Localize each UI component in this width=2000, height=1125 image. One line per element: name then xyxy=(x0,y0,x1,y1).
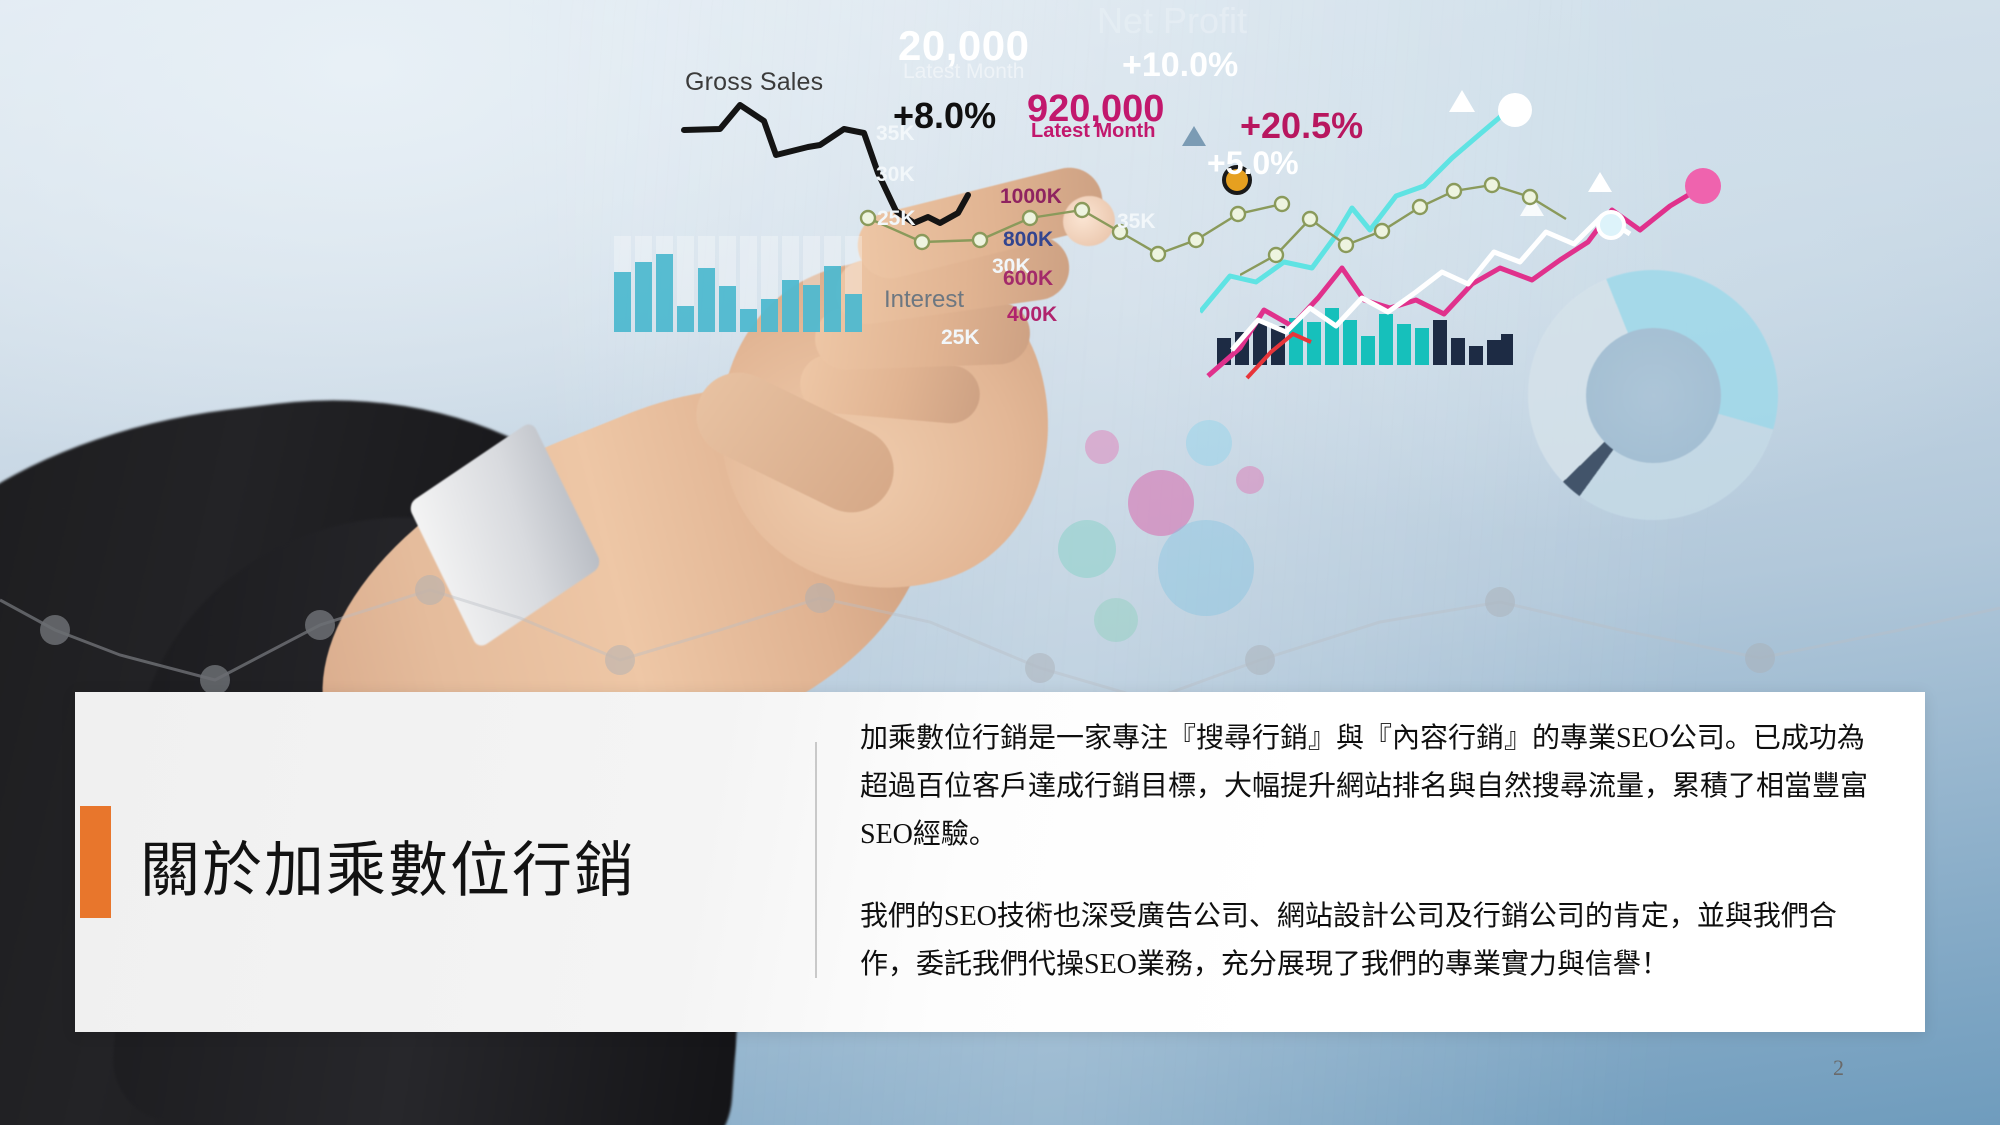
body-paragraph-2: 我們的SEO技術也深受廣告公司、網站設計公司及行銷公司的肯定，並與我們合作，委託… xyxy=(860,893,1880,989)
up-triangle-blue xyxy=(1182,126,1206,146)
label-pct-205: +20.5% xyxy=(1240,105,1363,147)
axis-label-25k-a: 25K xyxy=(877,207,916,231)
cyan-endpoint xyxy=(1498,93,1532,127)
axis-label-400k: 400K xyxy=(1007,303,1057,327)
magenta-endpoint xyxy=(1685,168,1721,204)
red-trend-segment xyxy=(1245,330,1315,380)
label-gross-sales: Gross Sales xyxy=(685,68,823,97)
label-interest: Interest xyxy=(884,286,964,314)
vertical-divider xyxy=(815,742,817,978)
page-title: 關於加乘數位行銷 xyxy=(140,790,760,940)
axis-label-35k-c: 35K xyxy=(1117,210,1156,234)
up-triangle-white-1 xyxy=(1449,90,1475,112)
axis-label-30k-a: 30K xyxy=(876,163,915,187)
label-net-profit: Net Profit xyxy=(1097,0,1247,42)
label-latest-month-caption: Latest Month xyxy=(903,60,1024,84)
accent-bar xyxy=(80,806,111,918)
axis-label-600k: 600K xyxy=(1003,267,1053,291)
white-line-endpoint xyxy=(1596,210,1626,240)
label-pct-10: +10.0% xyxy=(1122,46,1238,85)
body-text: 加乘數位行銷是一家專注『搜尋行銷』與『內容行銷』的專業SEO公司。已成功為超過百… xyxy=(860,715,1880,989)
label-revenue-caption: Latest Month xyxy=(1031,120,1155,143)
axis-label-1000k: 1000K xyxy=(1000,185,1062,209)
axis-label-25k-b: 25K xyxy=(941,326,980,350)
label-pct-5: +5.0% xyxy=(1207,145,1299,182)
body-paragraph-1: 加乘數位行銷是一家專注『搜尋行銷』與『內容行銷』的專業SEO公司。已成功為超過百… xyxy=(860,715,1880,859)
axis-label-35k-a: 35K xyxy=(876,122,915,146)
page-number: 2 xyxy=(1833,1055,1844,1081)
slide-canvas: Gross Sales Interest 20,000 Latest Month… xyxy=(0,0,2000,1125)
axis-label-800k: 800K xyxy=(1003,228,1053,252)
